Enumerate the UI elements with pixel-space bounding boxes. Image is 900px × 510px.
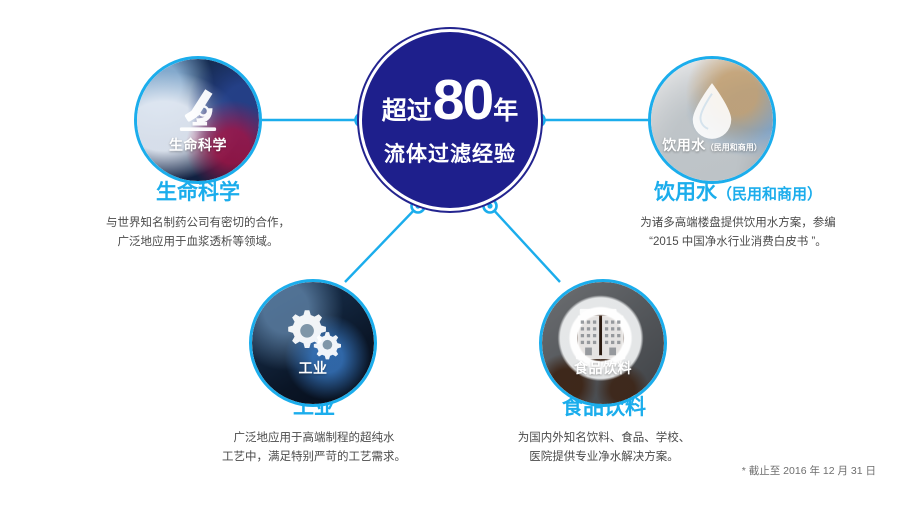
caption-drinking-water: 饮用水（民用和商用） 为诸多高端楼盘提供饮用水方案，参编 “2015 中国净水行… bbox=[588, 180, 888, 252]
industrial-circle[interactable]: 工业 bbox=[249, 279, 377, 407]
industrial-photo bbox=[252, 282, 374, 404]
hub-suffix: 年 bbox=[493, 99, 518, 124]
industrial-body: 广泛地应用于高端制程的超纯水 工艺中，满足特别严苛的工艺需求。 bbox=[175, 429, 453, 467]
hub-prefix: 超过 bbox=[382, 99, 432, 124]
node-industrial[interactable]: 工业 bbox=[249, 279, 377, 407]
drinking-water-circle[interactable]: 饮用水（民用和商用） bbox=[648, 56, 776, 184]
caption-life-sciences: 生命科学 与世界知名制药公司有密切的合作， 广泛地应用于血浆透析等领域。 bbox=[58, 180, 338, 252]
food-beverage-circle[interactable]: 食品饮料 bbox=[539, 279, 667, 407]
life-sciences-circle[interactable]: 生命科学 bbox=[134, 56, 262, 184]
footnote: * 截止至 2016 年 12 月 31 日 bbox=[742, 463, 876, 478]
life-sciences-inner-label: 生命科学 bbox=[137, 135, 259, 155]
hub-headline: 超过 80 年 bbox=[382, 72, 518, 129]
hub-number: 80 bbox=[433, 72, 492, 129]
node-food-beverage[interactable]: 食品饮料 bbox=[539, 279, 667, 407]
industrial-inner-label: 工业 bbox=[252, 358, 374, 378]
node-life-sciences[interactable]: 生命科学 bbox=[134, 56, 262, 184]
food-beverage-body: 为国内外知名饮料、食品、学校、 医院提供专业净水解决方案。 bbox=[465, 429, 743, 467]
food-beverage-inner-label: 食品饮料 bbox=[542, 358, 664, 378]
drinking-water-inner-label: 饮用水（民用和商用） bbox=[651, 135, 773, 155]
drinking-water-photo bbox=[651, 59, 773, 181]
central-hub: 超过 80 年 流体过滤经验 bbox=[362, 32, 538, 208]
hub-subtitle: 流体过滤经验 bbox=[384, 138, 516, 168]
infographic-canvas: 超过 80 年 流体过滤经验 bbox=[0, 0, 900, 510]
life-sciences-photo bbox=[137, 59, 259, 181]
food-beverage-photo bbox=[542, 282, 664, 404]
drinking-water-body: 为诸多高端楼盘提供饮用水方案，参编 “2015 中国净水行业消费白皮书 ”。 bbox=[588, 214, 888, 252]
node-drinking-water[interactable]: 饮用水（民用和商用） bbox=[648, 56, 776, 184]
life-sciences-body: 与世界知名制药公司有密切的合作， 广泛地应用于血浆透析等领域。 bbox=[58, 214, 338, 252]
